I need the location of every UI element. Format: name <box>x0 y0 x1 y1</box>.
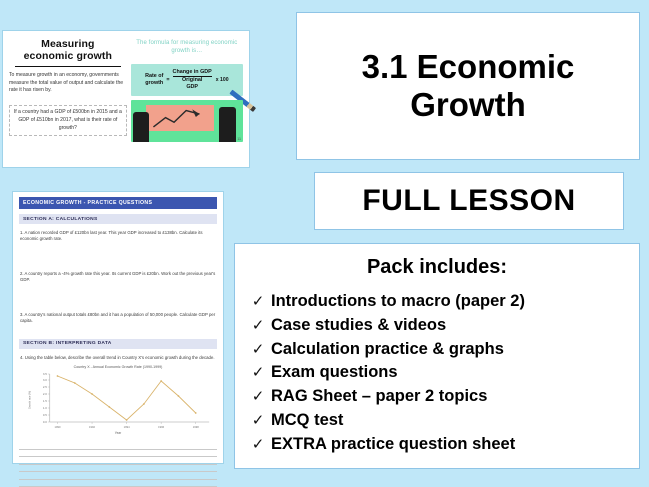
formula-denominator-line1: Original <box>173 77 212 84</box>
list-item-label: Calculation practice & graphs <box>271 339 504 361</box>
check-icon: ✓ <box>245 437 271 452</box>
formula-numerator: Change in GDP <box>173 69 212 77</box>
svg-text:3.0: 3.0 <box>43 378 47 382</box>
upward-arrow-icon <box>151 107 212 131</box>
list-item: ✓ EXTRA practice question sheet <box>245 434 629 456</box>
page-title: 3.1 Economic Growth <box>362 48 575 123</box>
slide-title-line2: economic growth <box>24 50 112 62</box>
worksheet-preview-practice-questions[interactable]: ECONOMIC GROWTH - PRACTICE QUESTIONS SEC… <box>12 191 224 464</box>
check-icon: ✓ <box>245 389 271 404</box>
list-item: ✓ MCQ test <box>245 410 629 432</box>
hand-left <box>133 112 149 141</box>
hand-right <box>219 107 236 141</box>
svg-text:1998: 1998 <box>193 425 199 429</box>
formula-lhs-line1: Rate of <box>145 73 163 79</box>
svg-text:1994: 1994 <box>124 425 130 429</box>
worksheet-answer-lines <box>19 442 217 487</box>
svg-text:0.5: 0.5 <box>43 413 47 417</box>
worksheet-header: ECONOMIC GROWTH - PRACTICE QUESTIONS <box>19 197 217 209</box>
full-lesson-label: FULL LESSON <box>362 184 575 218</box>
lesson-title-box: 3.1 Economic Growth <box>296 12 640 160</box>
formula-multiplier: x 100 <box>216 77 229 83</box>
pack-includes-box: Pack includes: ✓ Introductions to macro … <box>234 243 640 469</box>
worksheet-question-4: 4. Using the table below, describe the o… <box>20 355 216 361</box>
svg-text:2.5: 2.5 <box>43 385 47 389</box>
worksheet-section-a-heading: SECTION A: CALCULATIONS <box>19 214 217 224</box>
formula-denominator-line2: GDP <box>173 84 212 91</box>
check-icon: ✓ <box>245 318 271 333</box>
slide-preview-measuring-economic-growth[interactable]: Measuring economic growth To measure gro… <box>2 30 250 168</box>
chart-title: Country X - Annual Economic Growth Rate … <box>19 365 217 369</box>
svg-text:0.0: 0.0 <box>43 420 47 424</box>
pack-includes-list: ✓ Introductions to macro (paper 2) ✓ Cas… <box>245 291 629 455</box>
growth-formula: Rate of growth = Change in GDP Original … <box>131 64 243 96</box>
page-title-line1: 3.1 Economic <box>362 48 575 85</box>
resource-cover-page: { "page": { "background_color": "#bfe7f8… <box>0 0 649 487</box>
list-item: ✓ Case studies & videos <box>245 315 629 337</box>
svg-text:1.5: 1.5 <box>43 399 47 403</box>
formula-lhs-line2: growth <box>145 80 163 86</box>
check-icon: ✓ <box>245 342 271 357</box>
answer-line <box>19 465 217 473</box>
slide-question-box: If a country had a GDP of £500bn in 2015… <box>9 105 127 136</box>
list-item: ✓ Exam questions <box>245 362 629 384</box>
page-title-line2: Growth <box>410 86 525 123</box>
svg-text:Growth rate (%): Growth rate (%) <box>29 391 32 409</box>
worksheet-answer-space-1 <box>19 243 217 265</box>
answer-line <box>19 442 217 450</box>
svg-text:2.0: 2.0 <box>43 392 47 396</box>
worksheet-answer-space-2 <box>19 284 217 306</box>
formula-caption: The formula for measuring economic growt… <box>131 39 243 56</box>
check-icon: ✓ <box>245 413 271 428</box>
list-item-label: Introductions to macro (paper 2) <box>271 291 525 313</box>
pack-includes-heading: Pack includes: <box>245 256 629 279</box>
slide-title-line1: Measuring <box>41 38 94 50</box>
svg-text:3.5: 3.5 <box>43 372 47 376</box>
list-item: ✓ Introductions to macro (paper 2) <box>245 291 629 313</box>
answer-line <box>19 480 217 487</box>
svg-text:1990: 1990 <box>54 425 60 429</box>
list-item-label: EXTRA practice question sheet <box>271 434 515 456</box>
list-item-label: Exam questions <box>271 362 398 384</box>
chart-plot-area: 0.00.5 1.01.5 2.02.5 3.03.5 19901992 199… <box>21 370 213 432</box>
svg-text:1996: 1996 <box>158 425 164 429</box>
worksheet-question-2: 2. A country reports a -4% growth rate t… <box>20 271 216 284</box>
growth-rate-chart: Country X - Annual Economic Growth Rate … <box>19 365 217 435</box>
svg-text:1992: 1992 <box>89 425 95 429</box>
list-item: ✓ RAG Sheet – paper 2 topics <box>245 386 629 408</box>
list-item-label: Case studies & videos <box>271 315 446 337</box>
formula-left-hand-side: Rate of growth <box>145 73 163 87</box>
slide-left-column: Measuring economic growth To measure gro… <box>9 35 131 163</box>
list-item-label: RAG Sheet – paper 2 topics <box>271 386 487 408</box>
slide-body-text: To measure growth in an economy, governm… <box>9 72 127 94</box>
svg-text:1.0: 1.0 <box>43 406 47 410</box>
slide-right-column: The formula for measuring economic growt… <box>131 35 243 163</box>
slide-title: Measuring economic growth <box>9 38 127 62</box>
full-lesson-badge: FULL LESSON <box>314 172 624 230</box>
list-item: ✓ Calculation practice & graphs <box>245 339 629 361</box>
check-icon: ✓ <box>245 365 271 380</box>
slide-number: 11 <box>237 137 241 141</box>
worksheet-question-1: 1. A nation recorded GDP of £120bn last … <box>20 230 216 243</box>
formula-equals-sign: = <box>166 77 169 83</box>
slide-title-divider <box>15 66 121 67</box>
answer-line <box>19 450 217 458</box>
formula-fraction: Change in GDP Original GDP <box>173 69 212 91</box>
worksheet-section-b-heading: SECTION B: INTERPRETING DATA <box>19 339 217 349</box>
answer-line <box>19 457 217 465</box>
answer-line <box>19 472 217 480</box>
list-item-label: MCQ test <box>271 410 343 432</box>
tablet-growth-photo: 11 <box>131 100 243 142</box>
worksheet-question-3: 3. A country's national output totals £8… <box>20 312 216 325</box>
check-icon: ✓ <box>245 294 271 309</box>
